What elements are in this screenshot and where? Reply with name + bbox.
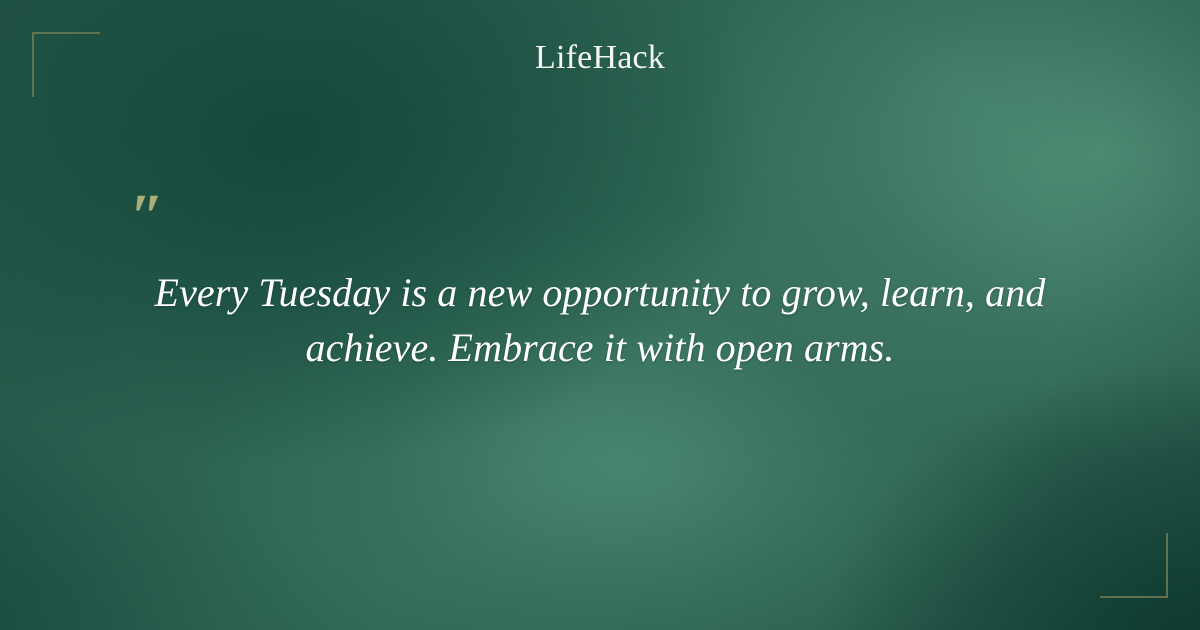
quotation-mark-icon: ″ <box>118 195 1082 241</box>
quote-card: LifeHack ″ Every Tuesday is a new opport… <box>0 0 1200 630</box>
brand-logo: LifeHack <box>0 38 1200 79</box>
quote-text: Every Tuesday is a new opportunity to gr… <box>118 265 1082 375</box>
quote-block: ″ Every Tuesday is a new opportunity to … <box>118 195 1082 375</box>
corner-bracket-bottom-right-icon <box>1100 533 1168 598</box>
